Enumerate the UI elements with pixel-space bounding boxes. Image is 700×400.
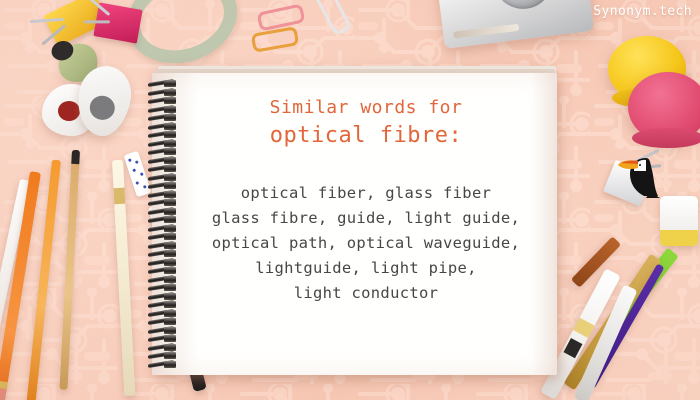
glue-stick [660,196,698,246]
card-content: Similar words for optical fibre: optical… [190,95,542,306]
spiral-coil [148,250,182,257]
spiral-coil [148,208,182,215]
spiral-coil [148,216,182,223]
spiral-coil [148,293,182,300]
spiral-binding [148,80,188,368]
synonym-line: glass fibre, guide, light guide, [190,206,542,231]
spiral-coil [148,233,182,240]
spiral-coil [148,174,182,181]
spiral-coil [148,97,182,104]
spiral-coil [148,242,182,249]
spiral-coil [148,191,182,198]
spiral-coil [148,157,182,164]
spiral-coil [148,80,182,87]
spiral-coil [148,344,182,351]
notebook: Similar words for optical fibre: optical… [152,66,558,378]
spiral-coil [148,259,182,266]
toucan-sticker [616,148,672,200]
synonym-list: optical fiber, glass fiber glass fibre, … [190,181,542,306]
synonym-line: optical path, optical waveguide, [190,231,542,256]
spiral-coil [148,284,182,291]
spiral-coil [148,106,182,113]
card-subtitle: Similar words for [190,95,542,121]
spiral-coil [148,361,182,368]
macaron-pink [628,72,700,142]
spiral-coil [148,89,182,96]
camera-grip [453,24,519,39]
spiral-coil [148,148,182,155]
spiral-coil [148,131,182,138]
spiral-coil [148,123,182,130]
watermark: Synonym.tech [593,4,692,19]
spiral-coil [148,199,182,206]
spiral-coil [148,327,182,334]
spiral-coil [148,301,182,308]
spiral-coil [148,267,182,274]
spiral-coil [148,310,182,317]
spiral-coil [148,335,182,342]
screenshot-canvas: Similar words for optical fibre: optical… [0,0,700,400]
synonym-line: optical fiber, glass fiber [190,181,542,206]
synonym-line: light conductor [190,281,542,306]
camera-lens [490,0,557,12]
spiral-coil [148,114,182,121]
spiral-coil [148,182,182,189]
spiral-coil [148,140,182,147]
spiral-coil [148,165,182,172]
spiral-coil [148,318,182,325]
card-term: optical fibre: [190,121,542,151]
spiral-coil [148,225,182,232]
binder-clip-pink [93,2,142,43]
synonym-line: lightguide, light pipe, [190,256,542,281]
notebook-page: Similar words for optical fibre: optical… [152,73,557,375]
spiral-coil [148,276,182,283]
spiral-coil [148,352,182,359]
